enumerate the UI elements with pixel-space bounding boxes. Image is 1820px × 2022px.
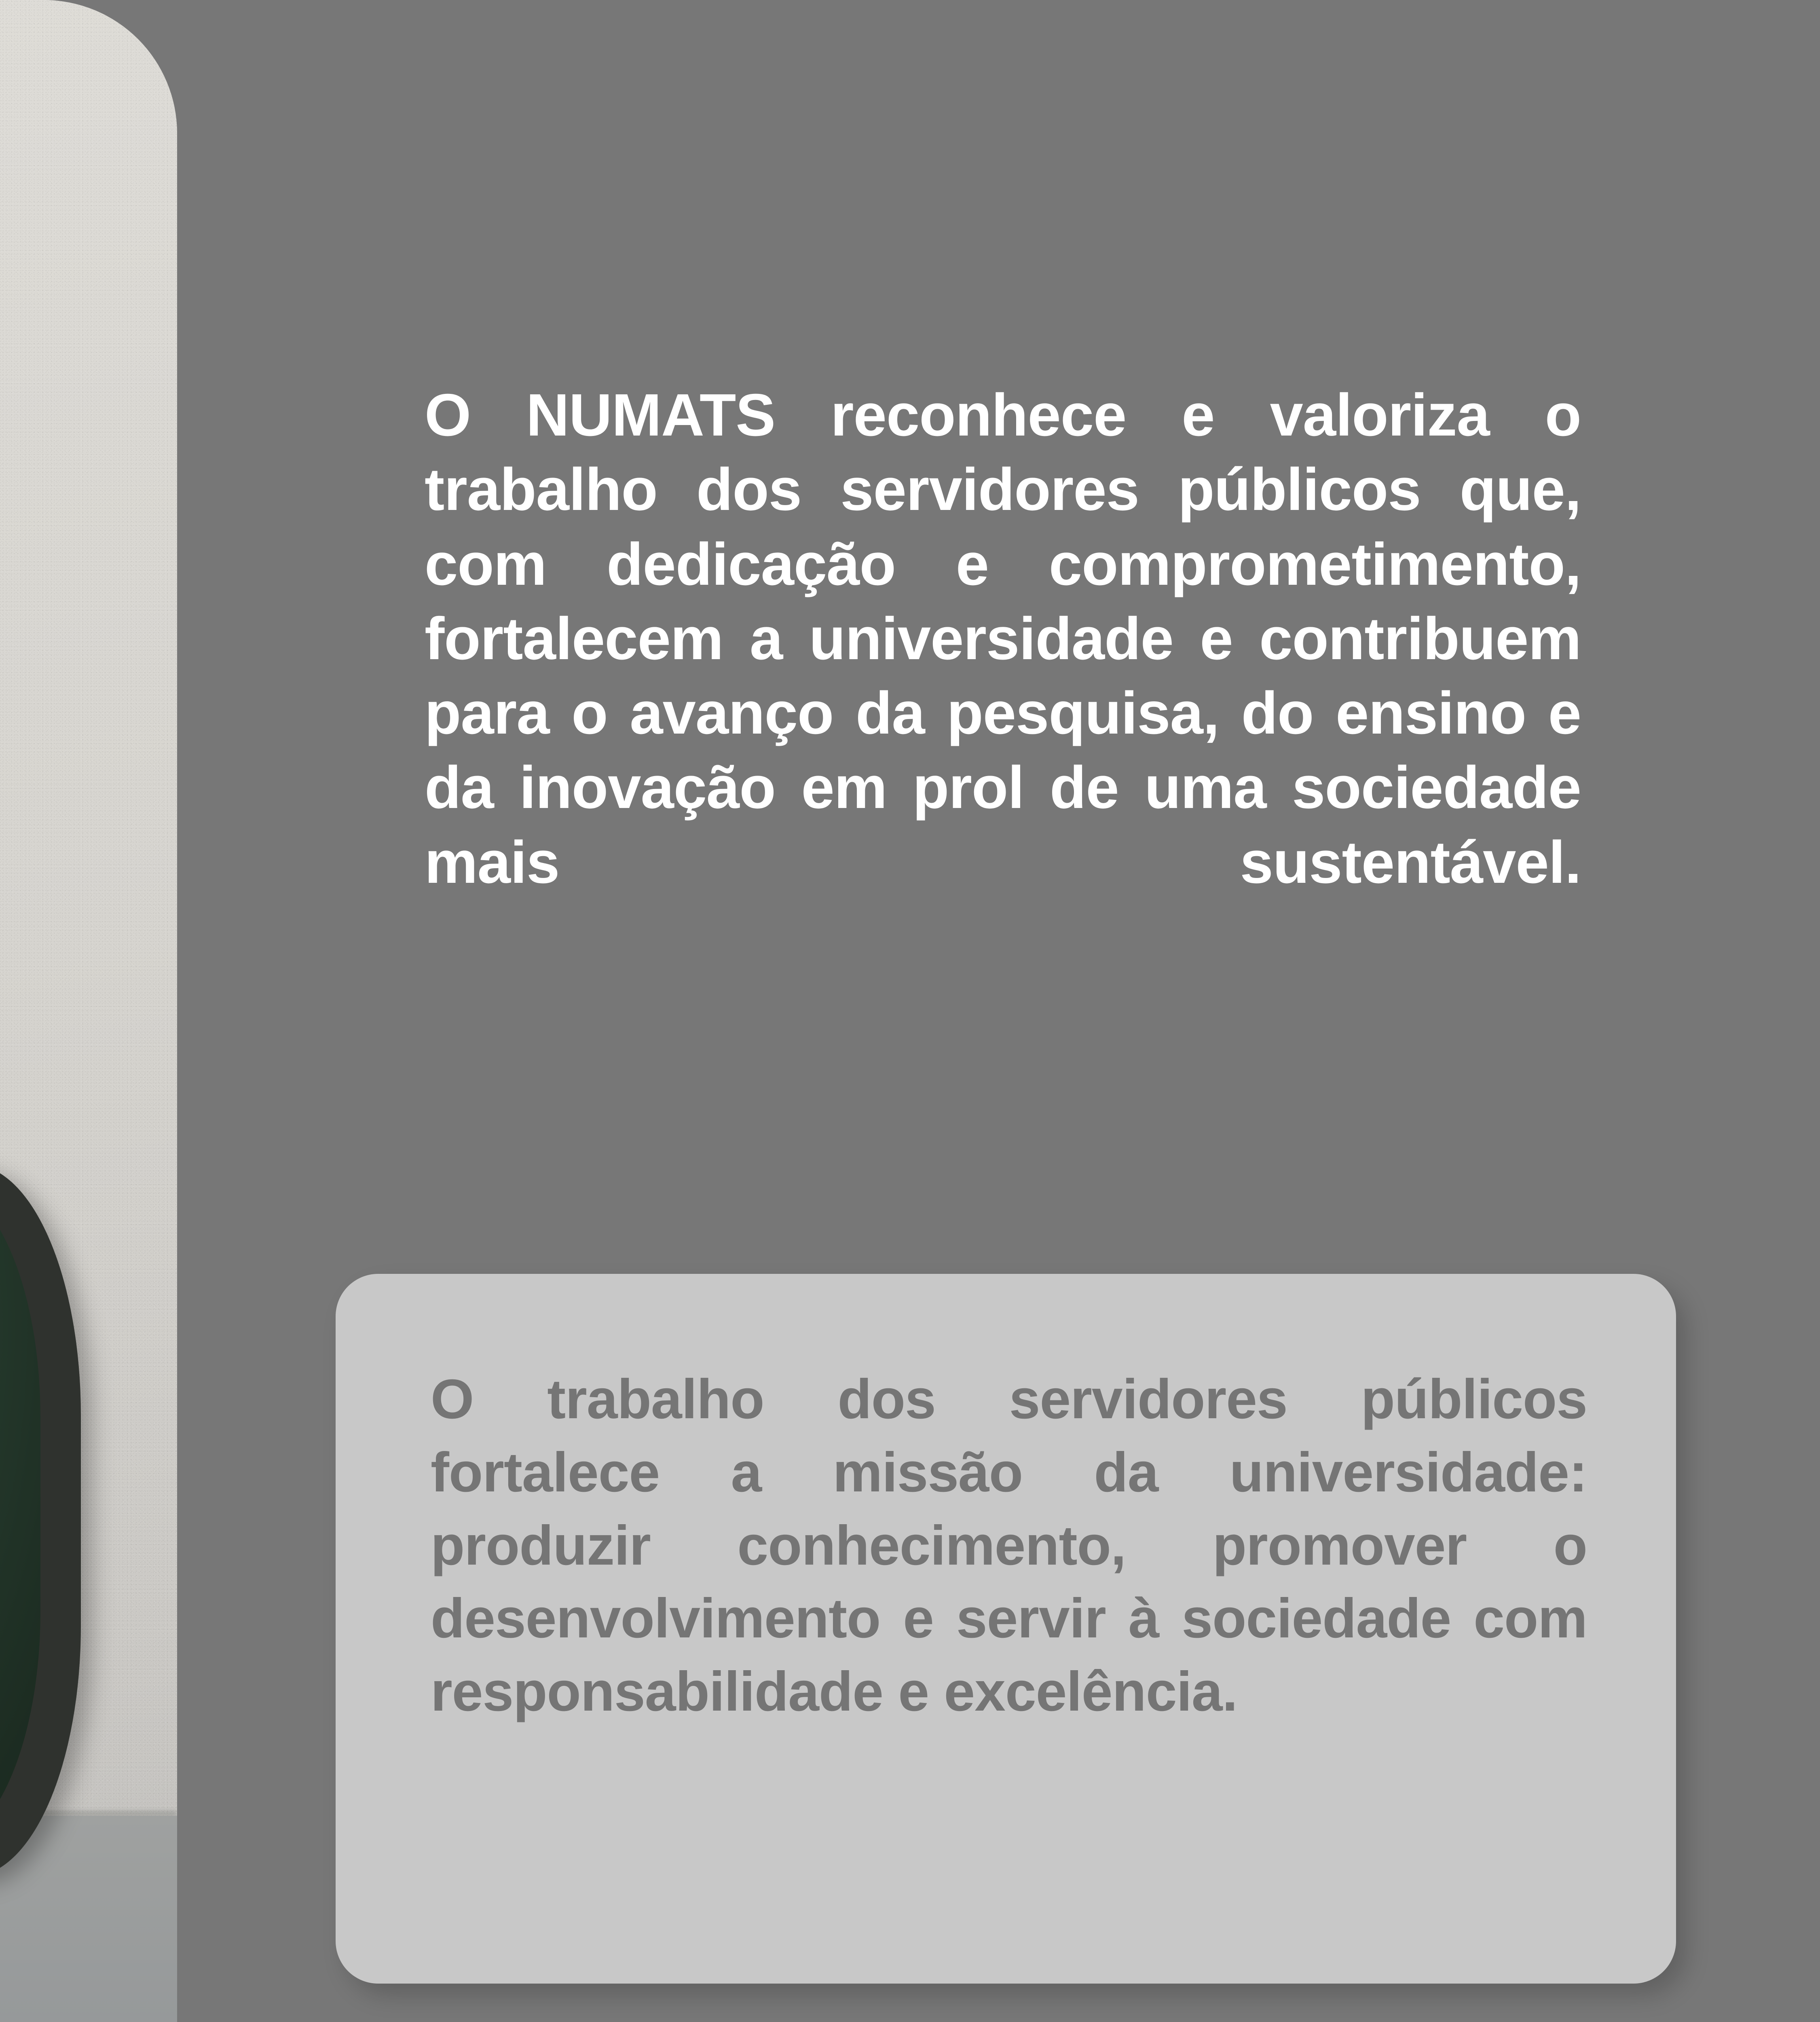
headline-text: O NUMATS reconhece e valoriza o trabalho…: [425, 378, 1581, 900]
highlight-card: O trabalho dos servidores públicos forta…: [336, 1274, 1676, 1984]
photo-floor: [0, 1816, 177, 2022]
highlight-card-text: O trabalho dos servidores públicos forta…: [431, 1363, 1587, 1728]
poster-canvas: O NUMATS reconhece e valoriza o trabalho…: [0, 0, 1820, 2022]
photo-panel: [0, 0, 177, 2022]
